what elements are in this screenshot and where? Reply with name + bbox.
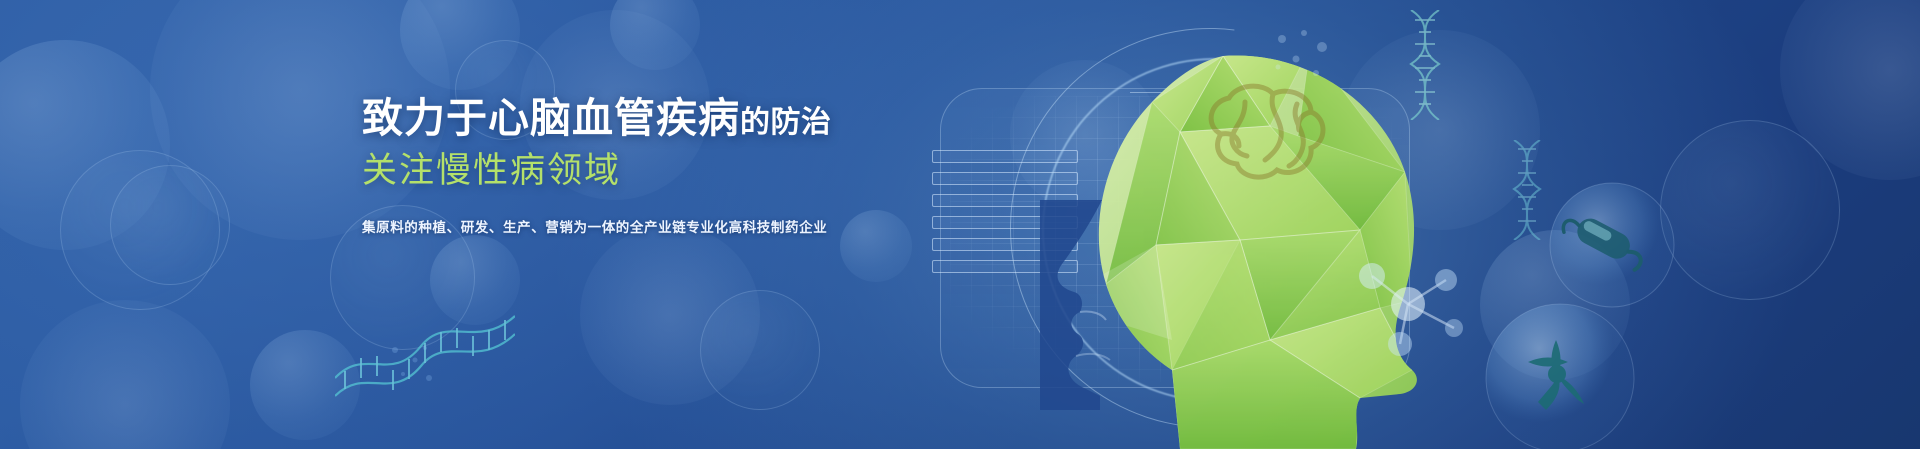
bokeh-circle bbox=[580, 225, 760, 405]
bokeh-circle bbox=[250, 330, 360, 440]
bacteria-cell-icon bbox=[1480, 300, 1640, 449]
banner-description: 集原料的种植、研发、生产、营销为一体的全产业链专业化高科技制药企业 bbox=[362, 216, 1062, 236]
banner-copy: 致力于心脑血管疾病的防治 关注慢性病领域 集原料的种植、研发、生产、营销为一体的… bbox=[362, 96, 1062, 236]
dna-helix-icon bbox=[335, 300, 515, 405]
bokeh-circle bbox=[1660, 120, 1840, 300]
banner-subheadline: 关注慢性病领域 bbox=[362, 151, 1062, 190]
bokeh-circle bbox=[700, 290, 820, 410]
banner-headline: 致力于心脑血管疾病的防治 bbox=[362, 96, 1062, 140]
bokeh-circle bbox=[20, 300, 230, 449]
bokeh-circle bbox=[60, 150, 220, 310]
headline-tail-text: 的防治 bbox=[740, 106, 832, 139]
bokeh-circle bbox=[110, 165, 230, 285]
bacteria-cell-icon bbox=[1545, 180, 1680, 310]
bokeh-circle bbox=[610, 0, 700, 70]
particle-cluster-icon bbox=[385, 340, 445, 395]
dna-helix-icon bbox=[1395, 10, 1455, 120]
bokeh-circle bbox=[0, 40, 170, 250]
headline-main-text: 致力于心脑血管疾病 bbox=[362, 95, 740, 141]
bokeh-circle bbox=[400, 0, 520, 90]
bokeh-circle bbox=[1780, 0, 1920, 180]
hero-banner: 致力于心脑血管疾病的防治 关注慢性病领域 集原料的种植、研发、生产、营销为一体的… bbox=[0, 0, 1920, 449]
bokeh-circle bbox=[430, 235, 520, 325]
dna-helix-icon bbox=[1500, 140, 1555, 240]
bokeh-circle bbox=[1480, 230, 1630, 380]
